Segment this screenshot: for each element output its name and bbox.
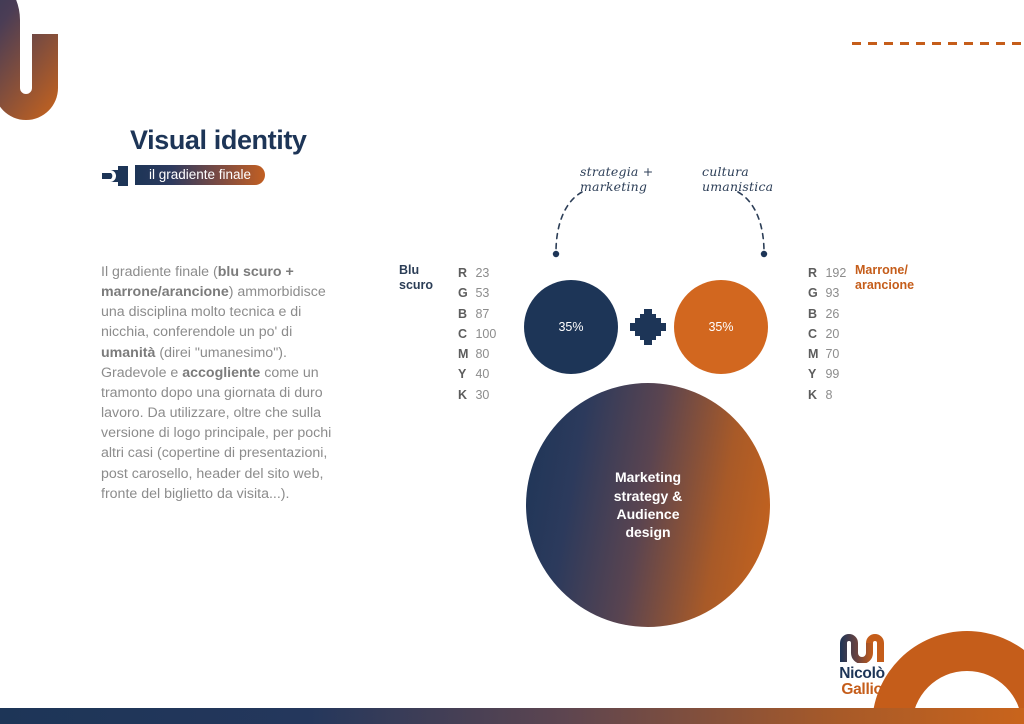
plus-operator-icon [628, 307, 668, 347]
color-value-row: G 93 [808, 283, 846, 303]
color-value-row: Y 99 [808, 364, 846, 384]
subtitle-badge-row: il gradiente finale [130, 165, 307, 187]
color-value-row: K 8 [808, 385, 846, 405]
circle-orange-percent: 35% [708, 320, 733, 334]
color-value-row: K 30 [458, 385, 496, 405]
swatch-name-marrone-arancione: Marrone/ arancione [855, 263, 935, 294]
page-title: Visual identity [130, 126, 307, 156]
arrow-dot-left [553, 251, 559, 257]
circle-blue-percent: 35% [558, 320, 583, 334]
arrow-curve-left [556, 192, 582, 252]
top-dashed-rule [852, 42, 1022, 45]
title-block: Visual identity il gradiente finale [130, 126, 307, 187]
arrow-curve-right [738, 192, 764, 252]
circle-blu-scuro: 35% [524, 280, 618, 374]
body-paragraph: Il gradiente finale (blu scuro + marrone… [101, 262, 349, 504]
logo-first-name: Nicolò [816, 666, 908, 682]
color-value-row: C 100 [458, 324, 496, 344]
color-value-row: B 26 [808, 304, 846, 324]
color-value-row: G 53 [458, 283, 496, 303]
circle-marrone-arancione: 35% [674, 280, 768, 374]
color-value-row: B 87 [458, 304, 496, 324]
color-values-marrone-arancione: R 192 G 93 B 26 C 20 M 70 Y 99 K 8 [808, 263, 846, 405]
circle-result-label: Marketing strategy & Audience design [614, 468, 682, 542]
bottom-gradient-bar [0, 708, 1024, 724]
callout-arrows [520, 180, 820, 270]
color-value-row: Y 40 [458, 364, 496, 384]
n-loop-icon [839, 633, 885, 663]
swatch-name-blu-scuro: Blu scuro [399, 263, 451, 294]
color-value-row: C 20 [808, 324, 846, 344]
logo: Nicolò Gallio [816, 633, 908, 698]
badge-pin-icon [102, 166, 136, 186]
logo-last-name: Gallio [816, 682, 908, 698]
color-value-row: M 70 [808, 344, 846, 364]
color-value-row: M 80 [458, 344, 496, 364]
color-values-blu-scuro: R 23 G 53 B 87 C 100 M 80 Y 40 K 30 [458, 263, 496, 405]
decorative-n-mark-icon [0, 0, 138, 134]
color-value-row: R 23 [458, 263, 496, 283]
arrow-dot-right [761, 251, 767, 257]
slide-canvas: Visual identity il gradiente finale Il g… [0, 0, 1024, 724]
circle-result-gradient: Marketing strategy & Audience design [526, 383, 770, 627]
subtitle-badge: il gradiente finale [135, 165, 265, 185]
